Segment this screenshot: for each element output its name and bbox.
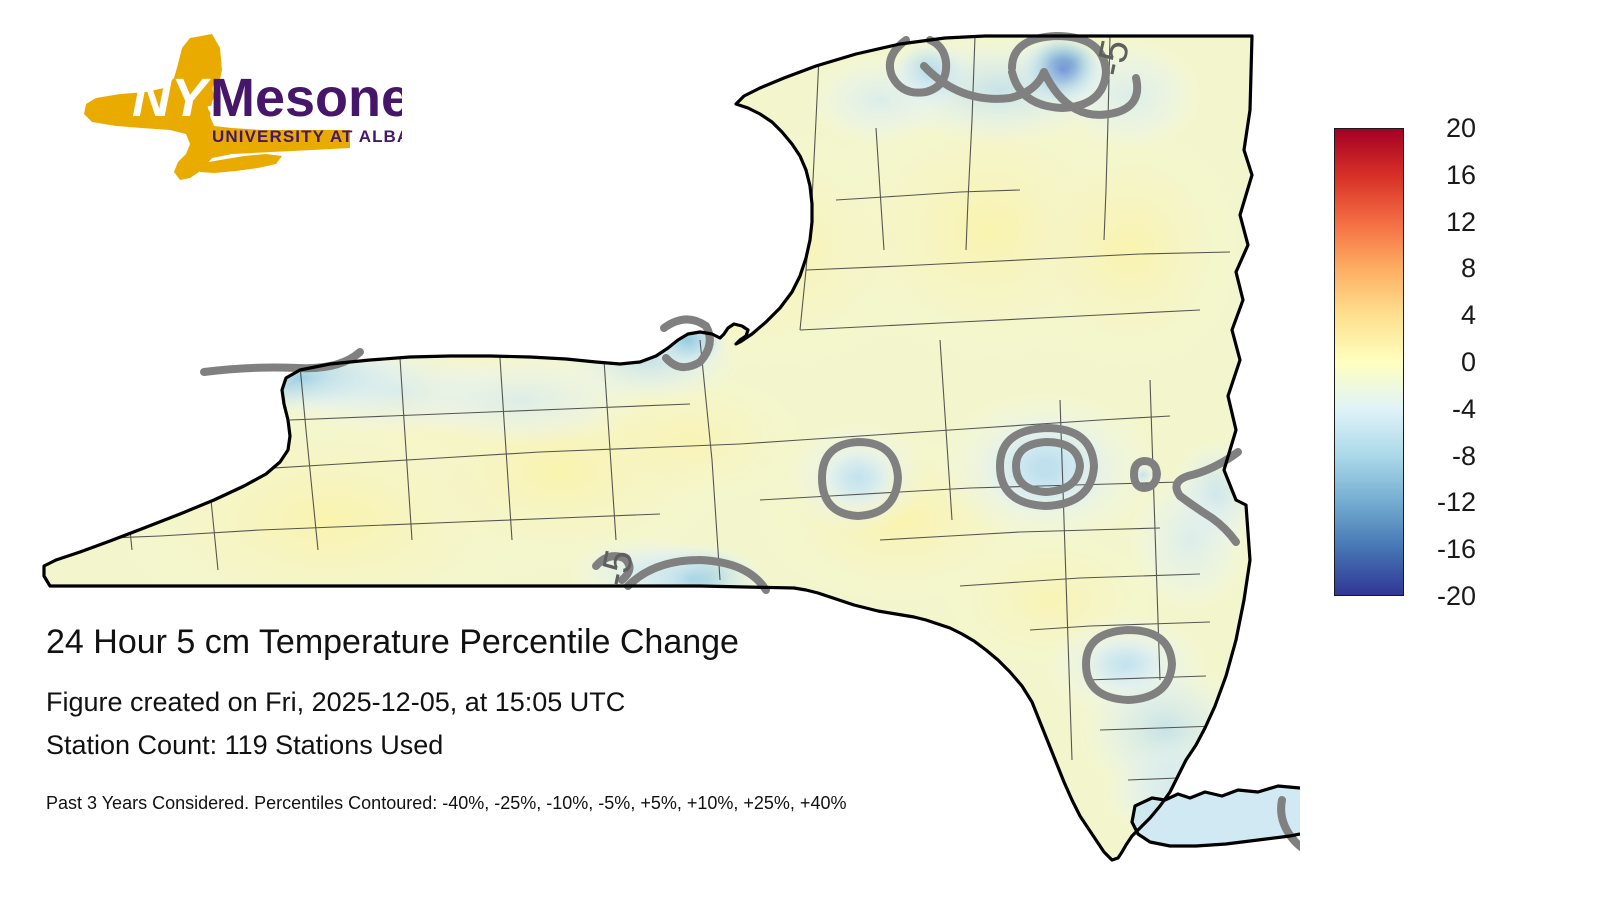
colorbar-tick-neg16: -16 bbox=[1437, 536, 1476, 563]
colorbar-tick-20: 20 bbox=[1446, 115, 1476, 142]
caption-block: 24 Hour 5 cm Temperature Percentile Chan… bbox=[46, 622, 1166, 814]
colorbar-tick-neg20: -20 bbox=[1437, 583, 1476, 610]
logo-mesonet-text: Mesonet bbox=[210, 68, 402, 128]
colorbar-tick-neg12: -12 bbox=[1437, 489, 1476, 516]
colorbar-gradient bbox=[1334, 128, 1404, 596]
colorbar bbox=[1334, 128, 1404, 596]
station-count-line: Station Count: 119 Stations Used bbox=[46, 729, 1166, 762]
colorbar-tick-16: 16 bbox=[1446, 162, 1476, 189]
colorbar-tick-12: 12 bbox=[1446, 209, 1476, 236]
colorbar-tick-8: 8 bbox=[1461, 255, 1476, 282]
colorbar-tick-4: 4 bbox=[1461, 302, 1476, 329]
colorbar-tick-0: 0 bbox=[1461, 349, 1476, 376]
logo-svg: NYS Mesonet UNIVERSITY AT ALBANY bbox=[62, 30, 402, 190]
colorbar-tick-neg4: -4 bbox=[1452, 396, 1476, 423]
figure-title: 24 Hour 5 cm Temperature Percentile Chan… bbox=[46, 622, 1166, 662]
nys-mesonet-logo: NYS Mesonet UNIVERSITY AT ALBANY bbox=[62, 30, 402, 190]
colorbar-tick-neg8: -8 bbox=[1452, 443, 1476, 470]
contour-note-line: Past 3 Years Considered. Percentiles Con… bbox=[46, 792, 1166, 814]
logo-subtitle-text: UNIVERSITY AT ALBANY bbox=[212, 127, 402, 146]
colorbar-tick-labels: 201612840-4-8-12-16-20 bbox=[1412, 128, 1476, 596]
figure-created-line: Figure created on Fri, 2025-12-05, at 15… bbox=[46, 686, 1166, 719]
